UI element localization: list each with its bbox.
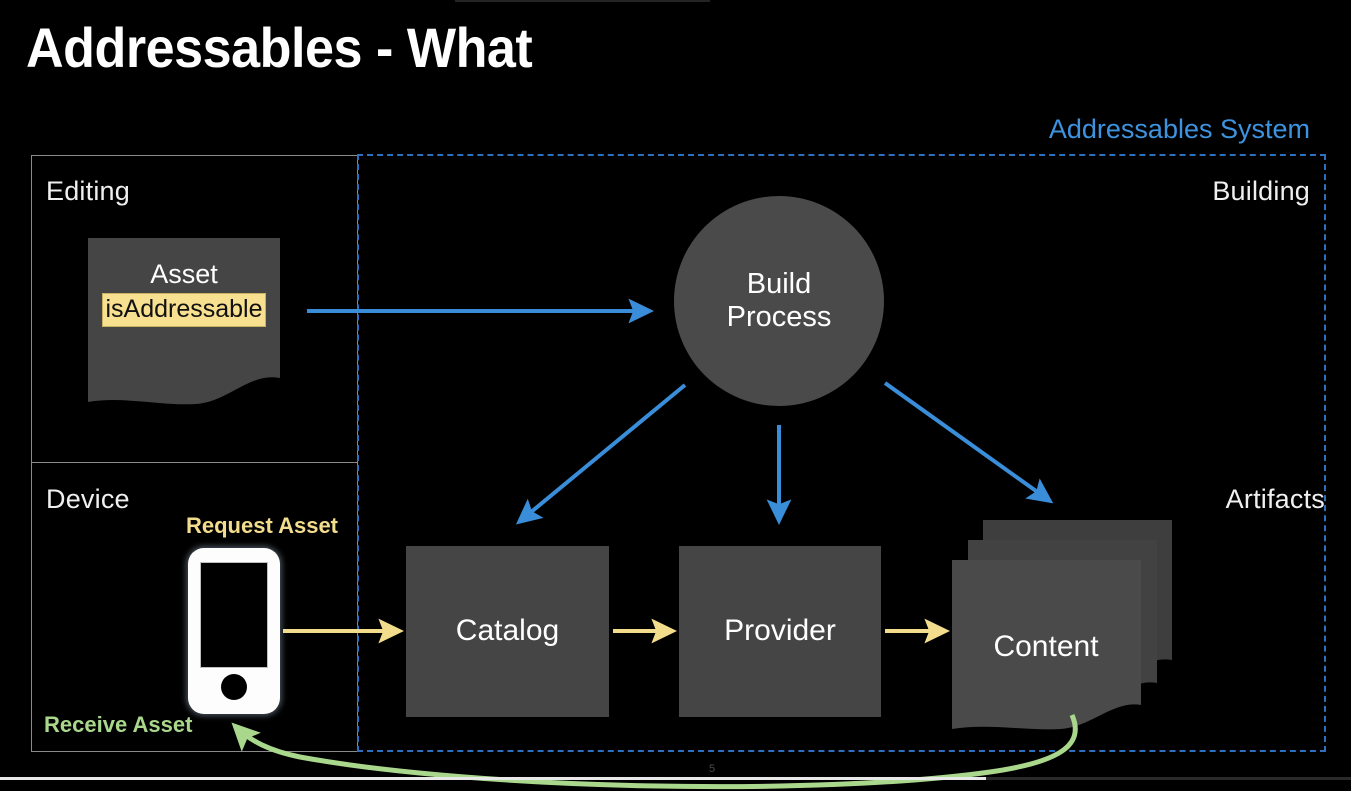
home-button-icon [221, 674, 247, 700]
artifacts-label: Artifacts [1226, 484, 1325, 515]
page-number: 5 [709, 763, 715, 775]
catalog-label: Catalog [456, 614, 559, 649]
editing-label: Editing [46, 176, 130, 207]
addressables-system-label: Addressables System [1049, 114, 1310, 145]
device-label: Device [46, 484, 130, 515]
asset-node-text: Asset isAddressable [88, 258, 280, 327]
video-progress-bar[interactable] [0, 777, 1351, 780]
video-progress-fill [0, 777, 986, 780]
mobile-device-icon[interactable] [188, 548, 280, 714]
provider-node[interactable]: Provider [679, 546, 881, 717]
content-node[interactable]: Content [952, 560, 1140, 735]
phone-screen [200, 562, 268, 668]
slide-canvas: Addressables - What Addressables System … [0, 0, 1351, 791]
asset-is-addressable-highlight: isAddressable [102, 293, 265, 326]
top-chrome-artifact [455, 0, 710, 2]
catalog-node[interactable]: Catalog [406, 546, 609, 717]
building-label: Building [1212, 176, 1310, 207]
build-process-label: Build Process [727, 268, 832, 335]
content-label: Content [993, 630, 1098, 665]
receive-asset-label: Receive Asset [44, 712, 192, 738]
asset-title: Asset [88, 258, 280, 290]
request-asset-label: Request Asset [186, 513, 338, 539]
asset-node[interactable]: Asset isAddressable [88, 238, 280, 406]
build-process-node[interactable]: Build Process [674, 196, 884, 406]
provider-label: Provider [724, 614, 836, 649]
page-title: Addressables - What [26, 17, 532, 79]
